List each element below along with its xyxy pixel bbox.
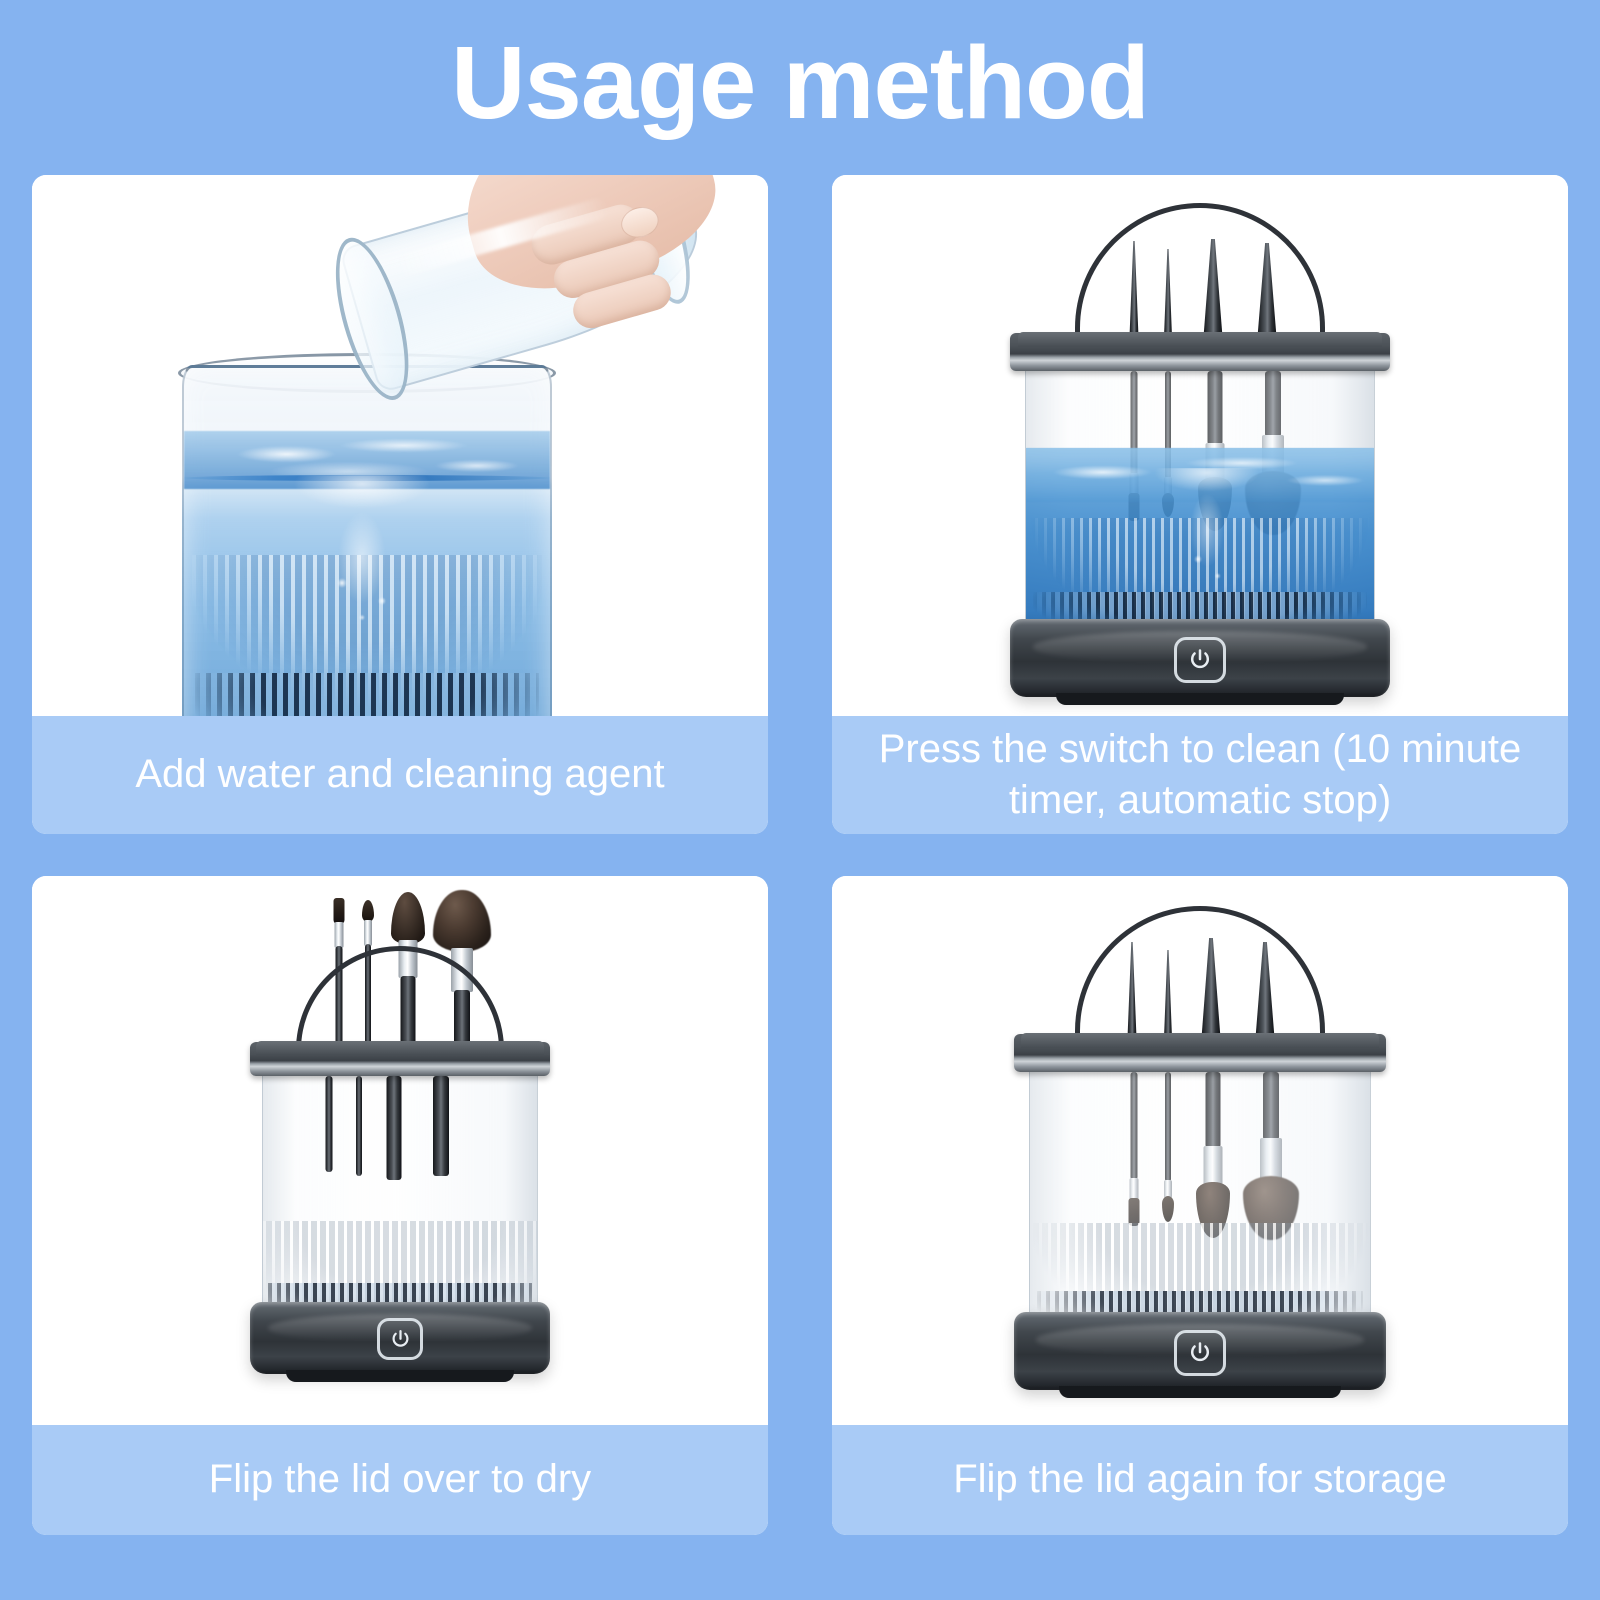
brush-shaft-inside-1 xyxy=(324,1076,334,1172)
steps-grid: Add water and cleaning agent xyxy=(32,175,1568,1535)
step-card-3: Flip the lid over to dry xyxy=(32,876,768,1535)
device-base xyxy=(1014,1312,1386,1390)
brush-cleaner-device-storage xyxy=(1014,892,1386,1392)
lid-top-face xyxy=(1021,1033,1378,1048)
step-3-caption: Flip the lid over to dry xyxy=(32,1425,768,1535)
brush-handle-top-1 xyxy=(1126,942,1138,1038)
brush-handle-top-2 xyxy=(1162,249,1174,337)
power-button[interactable] xyxy=(1174,1330,1226,1376)
tank-bristle-ring xyxy=(195,673,539,716)
device-lid[interactable] xyxy=(250,1042,550,1076)
step-1-illustration xyxy=(32,175,768,716)
device-base xyxy=(250,1302,550,1374)
device-lid[interactable] xyxy=(1010,333,1390,371)
step-1-caption: Add water and cleaning agent xyxy=(32,716,768,834)
step-card-1: Add water and cleaning agent xyxy=(32,175,768,834)
power-button[interactable] xyxy=(377,1318,423,1360)
brush-handle-top-2 xyxy=(1162,950,1174,1038)
device-feet xyxy=(1059,1386,1342,1398)
brush-handle-top-4 xyxy=(1254,942,1276,1038)
step-card-2: Press the switch to clean (10 minute tim… xyxy=(832,175,1568,834)
brush-shaft-inside-2 xyxy=(354,1076,364,1176)
tank-brand-tag xyxy=(398,1221,402,1231)
step-4-illustration xyxy=(832,876,1568,1425)
device-feet xyxy=(1056,693,1345,705)
step-2-illustration xyxy=(832,175,1568,716)
brush-shaft-inside-4 xyxy=(430,1076,452,1176)
lid-top-face xyxy=(1018,332,1383,347)
power-button[interactable] xyxy=(1174,637,1226,683)
device-lid[interactable] xyxy=(1014,1034,1386,1072)
brush-cleaner-device-cleaning xyxy=(1010,197,1390,697)
pouring-glass-with-hand xyxy=(322,175,768,477)
brush-handle-top-3 xyxy=(1200,938,1222,1038)
brush-handle-top-4 xyxy=(1256,243,1278,337)
step-3-illustration xyxy=(32,876,768,1425)
water-body xyxy=(1026,448,1374,626)
brush-cleaner-device-drying xyxy=(250,890,550,1380)
step-4-caption: Flip the lid again for storage xyxy=(832,1425,1568,1535)
power-icon xyxy=(1187,1340,1213,1366)
lid-top-face xyxy=(256,1041,544,1055)
brush-shaft-inside-3 xyxy=(384,1076,404,1180)
brush-handle-top-1 xyxy=(1128,241,1140,337)
page-title: Usage method xyxy=(0,24,1600,142)
step-card-4: Flip the lid again for storage xyxy=(832,876,1568,1535)
brush-handle-top-3 xyxy=(1202,239,1224,337)
power-icon xyxy=(389,1328,412,1351)
power-icon xyxy=(1187,647,1213,673)
water-tank xyxy=(1025,365,1375,627)
device-base xyxy=(1010,619,1390,697)
water-tank xyxy=(1029,1066,1371,1320)
step-2-caption: Press the switch to clean (10 minute tim… xyxy=(832,716,1568,834)
device-feet xyxy=(286,1370,514,1382)
